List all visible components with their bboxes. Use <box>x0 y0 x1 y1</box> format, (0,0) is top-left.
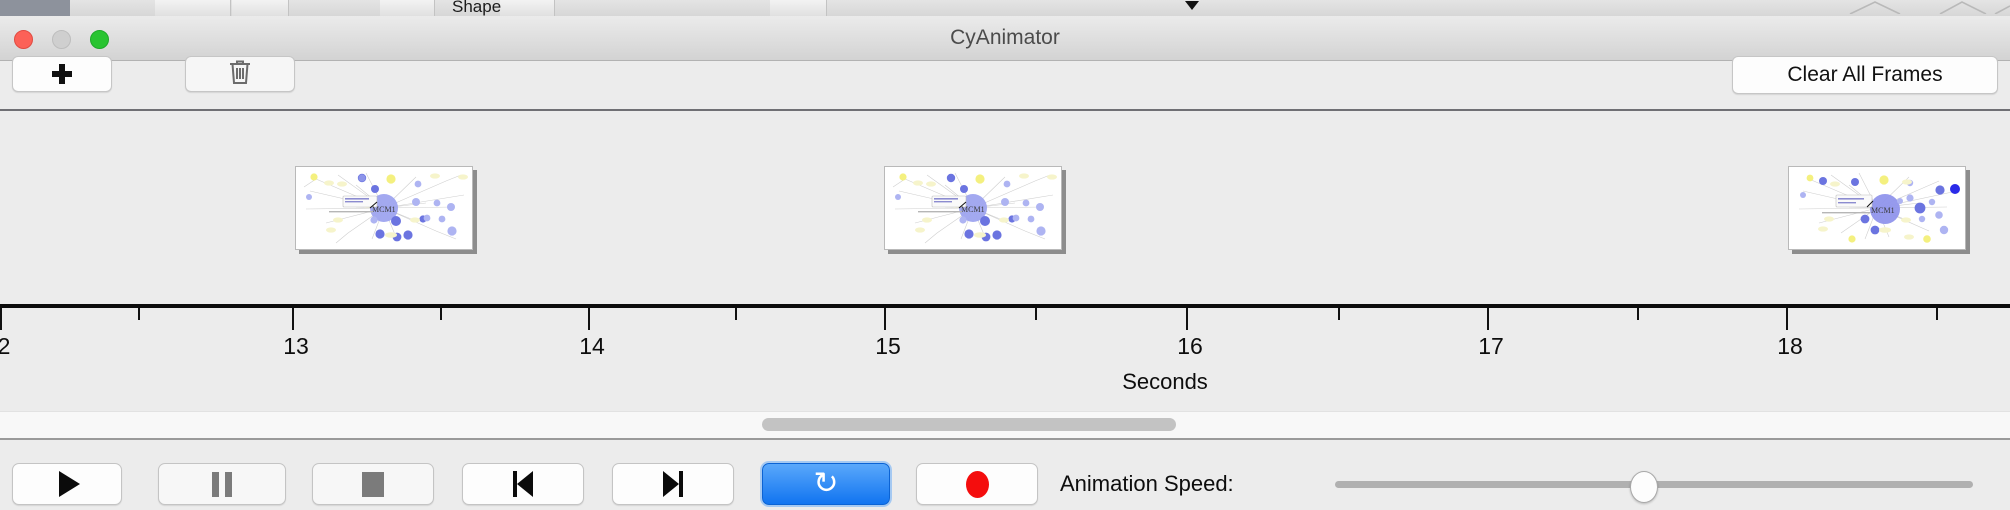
axis-tick-label: 18 <box>1777 333 1803 360</box>
axis-tick-major <box>1186 308 1188 330</box>
animation-speed-label: Animation Speed: <box>1060 463 1234 505</box>
title-bar: CyAnimator <box>0 16 2010 61</box>
horizontal-scrollbar-thumb[interactable] <box>762 418 1176 431</box>
axis-tick-label: 16 <box>1177 333 1203 360</box>
chevron-down-icon <box>1185 1 1199 10</box>
axis-title: Seconds <box>1122 369 1208 395</box>
stop-icon <box>362 472 384 497</box>
skip-forward-icon <box>663 471 683 497</box>
cyanimator-window: Shape CyAnimator <box>0 0 2010 510</box>
timeline-panel[interactable]: MCM1 <box>0 111 2010 411</box>
background-tab <box>500 0 555 16</box>
axis-tick-major <box>0 308 2 330</box>
skip-back-icon <box>513 471 533 497</box>
keyframe-thumbnail[interactable]: MCM1 <box>884 166 1062 250</box>
background-tab <box>155 0 231 16</box>
axis-tick-minor <box>735 308 737 320</box>
record-button[interactable] <box>916 463 1038 505</box>
clear-all-frames-button[interactable]: Clear All Frames <box>1732 56 1998 94</box>
plus-icon <box>51 63 73 85</box>
prev-frame-button[interactable] <box>462 463 584 505</box>
pause-icon <box>212 472 232 497</box>
keyframe-thumbnail[interactable]: MCM1 <box>1788 166 1966 250</box>
axis-tick-label: 17 <box>1478 333 1504 360</box>
background-tab <box>380 0 435 16</box>
delete-frame-button[interactable] <box>185 56 295 92</box>
add-frame-button[interactable] <box>12 56 112 92</box>
next-frame-button[interactable] <box>612 463 734 505</box>
timeline-axis <box>0 304 2010 308</box>
axis-tick-minor <box>1035 308 1037 320</box>
axis-tick-label: 14 <box>579 333 605 360</box>
play-icon <box>59 471 80 497</box>
window-title: CyAnimator <box>0 16 2010 60</box>
loop-button[interactable]: ↻ <box>762 463 890 505</box>
axis-tick-minor <box>440 308 442 320</box>
background-tab <box>232 0 289 16</box>
axis-tick-label: 15 <box>875 333 901 360</box>
minimize-button[interactable] <box>52 30 71 49</box>
svg-text:MCM1: MCM1 <box>1871 206 1895 215</box>
animation-speed-slider-knob[interactable] <box>1630 471 1658 503</box>
stop-button[interactable] <box>312 463 434 505</box>
record-icon <box>966 471 989 498</box>
axis-tick-minor <box>1936 308 1938 320</box>
axis-tick-major <box>884 308 886 330</box>
background-tab-active <box>0 0 70 16</box>
axis-tick-minor <box>1637 308 1639 320</box>
axis-tick-label: 13 <box>283 333 309 360</box>
background-shape-label: Shape <box>452 0 501 17</box>
svg-text:MCM1: MCM1 <box>961 205 985 214</box>
background-network-preview <box>1250 0 2010 14</box>
axis-tick-minor <box>138 308 140 320</box>
pause-button[interactable] <box>158 463 286 505</box>
loop-icon: ↻ <box>813 469 838 499</box>
svg-text:MCM1: MCM1 <box>372 205 396 214</box>
maximize-button[interactable] <box>90 30 109 49</box>
trash-icon <box>227 58 253 91</box>
toolbar <box>0 61 2010 111</box>
axis-tick-major <box>588 308 590 330</box>
keyframe-thumbnail[interactable]: MCM1 <box>295 166 473 250</box>
background-tab <box>770 0 827 16</box>
axis-tick-major <box>1786 308 1788 330</box>
axis-tick-major <box>1487 308 1489 330</box>
axis-tick-minor <box>1338 308 1340 320</box>
play-button[interactable] <box>12 463 122 505</box>
close-button[interactable] <box>14 30 33 49</box>
axis-tick-major <box>292 308 294 330</box>
axis-tick-label: 2 <box>0 333 10 360</box>
background-window-strip: Shape <box>0 0 2010 17</box>
